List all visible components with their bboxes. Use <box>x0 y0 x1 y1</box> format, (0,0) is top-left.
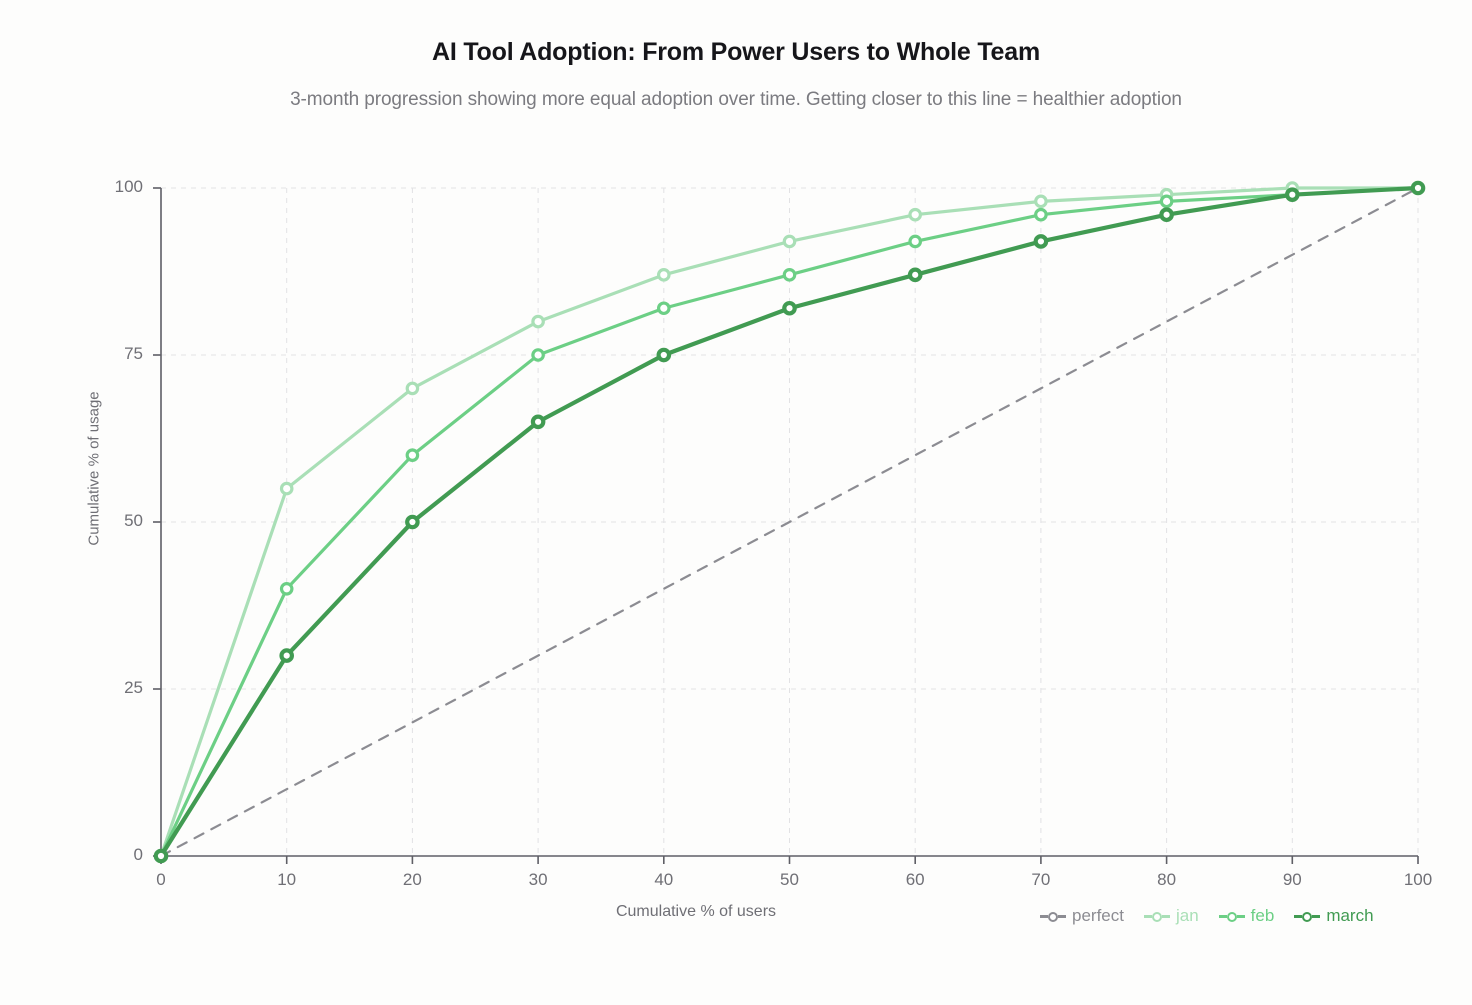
chart-legend: perfectjanfebmarch <box>1040 902 1374 930</box>
data-point-feb[interactable] <box>533 350 543 360</box>
data-point-march[interactable] <box>1036 236 1046 246</box>
x-tick-label: 50 <box>763 870 817 890</box>
x-tick-label: 20 <box>385 870 439 890</box>
data-point-march[interactable] <box>156 851 166 861</box>
data-point-march[interactable] <box>282 650 292 660</box>
data-point-march[interactable] <box>659 350 669 360</box>
data-point-feb[interactable] <box>1036 210 1046 220</box>
data-point-jan[interactable] <box>533 316 543 326</box>
data-point-feb[interactable] <box>659 303 669 313</box>
data-point-march[interactable] <box>910 270 920 280</box>
data-point-march[interactable] <box>1413 183 1423 193</box>
y-tick-label: 75 <box>95 344 143 364</box>
y-axis-title: Cumulative % of usage <box>86 359 103 579</box>
legend-item-march[interactable]: march <box>1294 906 1373 926</box>
legend-item-feb[interactable]: feb <box>1219 906 1275 926</box>
data-point-jan[interactable] <box>1036 196 1046 206</box>
data-point-march[interactable] <box>784 303 794 313</box>
lorenz-curve-plot <box>0 0 1472 1000</box>
plot-area <box>0 0 1472 1000</box>
legend-label: march <box>1326 906 1373 926</box>
data-point-feb[interactable] <box>784 270 794 280</box>
data-point-jan[interactable] <box>282 483 292 493</box>
y-tick-label: 100 <box>95 177 143 197</box>
x-tick-label: 90 <box>1265 870 1319 890</box>
legend-marker-icon <box>1294 910 1320 922</box>
x-axis-title: Cumulative % of users <box>566 903 826 921</box>
x-tick-label: 40 <box>637 870 691 890</box>
x-tick-label: 80 <box>1140 870 1194 890</box>
legend-item-perfect[interactable]: perfect <box>1040 906 1124 926</box>
x-tick-label: 60 <box>888 870 942 890</box>
chart-container: AI Tool Adoption: From Power Users to Wh… <box>0 0 1472 1000</box>
legend-marker-icon <box>1040 910 1066 922</box>
data-point-march[interactable] <box>533 417 543 427</box>
legend-label: feb <box>1251 906 1275 926</box>
data-point-feb[interactable] <box>282 584 292 594</box>
y-tick-label: 25 <box>95 678 143 698</box>
legend-label: perfect <box>1072 906 1124 926</box>
data-point-feb[interactable] <box>910 236 920 246</box>
x-tick-label: 0 <box>134 870 188 890</box>
data-point-march[interactable] <box>1161 210 1171 220</box>
legend-label: jan <box>1176 906 1199 926</box>
data-point-march[interactable] <box>1287 189 1297 199</box>
data-point-jan[interactable] <box>407 383 417 393</box>
data-point-jan[interactable] <box>910 210 920 220</box>
data-point-feb[interactable] <box>1161 196 1171 206</box>
legend-marker-icon <box>1219 910 1245 922</box>
y-tick-label: 0 <box>95 845 143 865</box>
y-tick-label: 50 <box>95 511 143 531</box>
x-tick-label: 30 <box>511 870 565 890</box>
x-tick-label: 10 <box>260 870 314 890</box>
data-point-feb[interactable] <box>407 450 417 460</box>
legend-marker-icon <box>1144 910 1170 922</box>
legend-item-jan[interactable]: jan <box>1144 906 1199 926</box>
x-tick-label: 100 <box>1391 870 1445 890</box>
data-point-jan[interactable] <box>659 270 669 280</box>
data-point-march[interactable] <box>407 517 417 527</box>
x-tick-label: 70 <box>1014 870 1068 890</box>
data-point-jan[interactable] <box>784 236 794 246</box>
